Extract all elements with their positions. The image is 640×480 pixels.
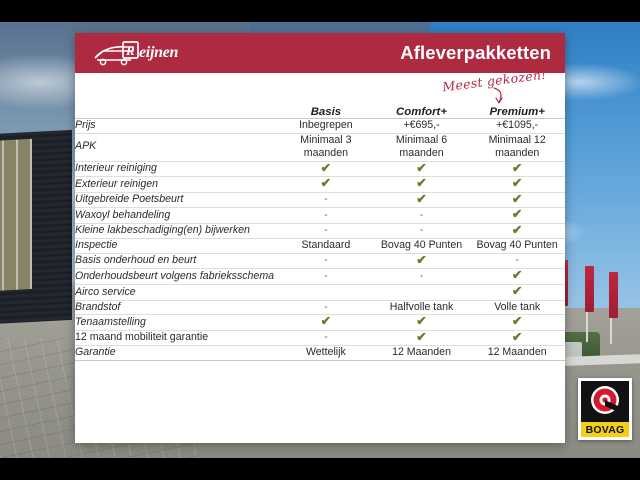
dash-marker: - — [324, 331, 328, 343]
flag — [585, 266, 594, 312]
letterbox-bottom — [0, 458, 640, 480]
table-row: GarantieWettelijk12 Maanden12 Maanden — [75, 346, 565, 361]
table-head: Basis Comfort+ Premium+ — [75, 106, 565, 119]
dash-marker: - — [515, 254, 519, 266]
cell-basis: - — [278, 253, 374, 269]
cell-comfort-plus: ✔ — [374, 177, 470, 193]
table-row: Brandstof-Halfvolle tankVolle tank — [75, 300, 565, 315]
cell-comfort-plus — [374, 285, 470, 301]
cell-comfort-plus: Halfvolle tank — [374, 300, 470, 315]
cell-basis: Inbegrepen — [278, 119, 374, 134]
bovag-logo-icon — [585, 384, 625, 423]
cell-basis: Minimaal 3 maanden — [278, 133, 374, 161]
column-header-basis: Basis — [278, 106, 374, 119]
table-row: Basis onderhoud en beurt-✔- — [75, 253, 565, 269]
dash-marker: - — [324, 209, 328, 221]
row-label: APK — [75, 133, 278, 161]
check-icon: ✔ — [321, 177, 331, 190]
cell-comfort-plus: Minimaal 6 maanden — [374, 133, 470, 161]
cell-premium-plus: 12 Maanden — [469, 346, 565, 361]
table-body: PrijsInbegrepen+€695,-+€1095,-APKMinimaa… — [75, 119, 565, 361]
dash-marker: - — [420, 270, 424, 282]
cell-premium-plus: Minimaal 12 maanden — [469, 133, 565, 161]
table-row: PrijsInbegrepen+€695,-+€1095,- — [75, 119, 565, 134]
cell-premium-plus: ✔ — [469, 269, 565, 285]
cell-basis: Standaard — [278, 239, 374, 254]
check-icon: ✔ — [321, 162, 331, 175]
table-row: Airco service ✔ — [75, 285, 565, 301]
dash-marker: - — [324, 254, 328, 266]
cell-comfort-plus: 12 Maanden — [374, 346, 470, 361]
packages-comparison-table: Basis Comfort+ Premium+ PrijsInbegrepen+… — [75, 106, 565, 361]
check-icon: ✔ — [512, 224, 522, 237]
check-icon: ✔ — [321, 315, 331, 328]
table-row: Kleine lakbeschadiging(en) bijwerken--✔ — [75, 223, 565, 239]
row-label: Prijs — [75, 119, 278, 134]
check-icon: ✔ — [512, 193, 522, 206]
svg-text:R: R — [125, 43, 135, 58]
cell-comfort-plus: ✔ — [374, 253, 470, 269]
table-row: 12 maand mobiliteit garantie-✔✔ — [75, 330, 565, 346]
cell-premium-plus: ✔ — [469, 208, 565, 224]
bovag-badge: BOVAG — [578, 378, 632, 440]
dash-marker: - — [420, 209, 424, 221]
check-icon: ✔ — [416, 315, 426, 328]
cell-basis: - — [278, 208, 374, 224]
flag — [609, 272, 618, 318]
page-title: Afleverpakketten — [400, 42, 551, 64]
check-icon: ✔ — [512, 177, 522, 190]
letterbox-top — [0, 0, 640, 22]
cell-basis: Wettelijk — [278, 346, 374, 361]
cell-basis — [278, 285, 374, 301]
table-row: InspectieStandaardBovag 40 PuntenBovag 4… — [75, 239, 565, 254]
table-row: Waxoyl behandeling--✔ — [75, 208, 565, 224]
dash-marker: - — [420, 224, 424, 236]
check-icon: ✔ — [416, 331, 426, 344]
cell-premium-plus: ✔ — [469, 223, 565, 239]
cell-basis: ✔ — [278, 161, 374, 177]
cell-basis: - — [278, 300, 374, 315]
check-icon: ✔ — [416, 254, 426, 267]
row-label: Tenaamstelling — [75, 315, 278, 331]
cell-comfort-plus: - — [374, 223, 470, 239]
package-card: R eijnen Afleverpakketten Meest gekozen!… — [75, 33, 565, 443]
cell-comfort-plus: ✔ — [374, 192, 470, 208]
bovag-label: BOVAG — [586, 424, 625, 436]
cell-comfort-plus: - — [374, 269, 470, 285]
table-row: Onderhoudsbeurt volgens fabrieksschema--… — [75, 269, 565, 285]
table-row: Exterieur reinigen✔✔✔ — [75, 177, 565, 193]
bovag-label-bar: BOVAG — [581, 422, 629, 437]
check-icon: ✔ — [512, 208, 522, 221]
row-label: Airco service — [75, 285, 278, 301]
dash-marker: - — [324, 193, 328, 205]
reijnen-logo[interactable]: R eijnen — [93, 39, 189, 67]
cell-premium-plus: +€1095,- — [469, 119, 565, 134]
cell-comfort-plus: Bovag 40 Punten — [374, 239, 470, 254]
dash-marker: - — [324, 301, 328, 313]
column-header-premium-plus: Premium+ — [469, 106, 565, 119]
row-label: Uitgebreide Poetsbeurt — [75, 192, 278, 208]
cell-basis: - — [278, 330, 374, 346]
cell-comfort-plus: +€695,- — [374, 119, 470, 134]
table-row: Uitgebreide Poetsbeurt-✔✔ — [75, 192, 565, 208]
check-icon: ✔ — [416, 193, 426, 206]
curved-arrow-icon — [491, 87, 507, 105]
column-header-comfort-plus: Comfort+ — [374, 106, 470, 119]
row-label: Interieur reiniging — [75, 161, 278, 177]
annotation-zone: Meest gekozen! — [75, 73, 565, 106]
building-glass — [0, 139, 32, 291]
cell-premium-plus: - — [469, 253, 565, 269]
check-icon: ✔ — [512, 162, 522, 175]
cell-basis: - — [278, 223, 374, 239]
row-label: Brandstof — [75, 300, 278, 315]
cell-basis: ✔ — [278, 177, 374, 193]
check-icon: ✔ — [512, 285, 522, 298]
dash-marker: - — [324, 224, 328, 236]
table-row: Tenaamstelling✔✔✔ — [75, 315, 565, 331]
dash-marker: - — [324, 270, 328, 282]
check-icon: ✔ — [416, 162, 426, 175]
row-label: Basis onderhoud en beurt — [75, 253, 278, 269]
check-icon: ✔ — [512, 269, 522, 282]
column-header-feature — [75, 106, 278, 119]
row-label: Onderhoudsbeurt volgens fabrieksschema — [75, 269, 278, 285]
card-header: R eijnen Afleverpakketten — [75, 33, 565, 73]
table-row: Interieur reiniging✔✔✔ — [75, 161, 565, 177]
row-label: Garantie — [75, 346, 278, 361]
cell-premium-plus: ✔ — [469, 285, 565, 301]
cell-basis: - — [278, 269, 374, 285]
svg-text:eijnen: eijnen — [139, 44, 178, 61]
row-label: Waxoyl behandeling — [75, 208, 278, 224]
check-icon: ✔ — [512, 315, 522, 328]
cell-comfort-plus: - — [374, 208, 470, 224]
cell-premium-plus: Volle tank — [469, 300, 565, 315]
cell-premium-plus: Bovag 40 Punten — [469, 239, 565, 254]
cell-premium-plus: ✔ — [469, 315, 565, 331]
cell-premium-plus: ✔ — [469, 192, 565, 208]
check-icon: ✔ — [512, 331, 522, 344]
check-icon: ✔ — [416, 177, 426, 190]
cell-comfort-plus: ✔ — [374, 161, 470, 177]
cell-comfort-plus: ✔ — [374, 315, 470, 331]
bovag-badge-inner: BOVAG — [581, 381, 629, 437]
cell-basis: - — [278, 192, 374, 208]
row-label: Exterieur reinigen — [75, 177, 278, 193]
cell-comfort-plus: ✔ — [374, 330, 470, 346]
row-label: 12 maand mobiliteit garantie — [75, 330, 278, 346]
table-row: APKMinimaal 3 maandenMinimaal 6 maandenM… — [75, 133, 565, 161]
table-header-row: Basis Comfort+ Premium+ — [75, 106, 565, 119]
row-label: Inspectie — [75, 239, 278, 254]
cell-basis: ✔ — [278, 315, 374, 331]
cell-premium-plus: ✔ — [469, 330, 565, 346]
cell-premium-plus: ✔ — [469, 161, 565, 177]
cell-premium-plus: ✔ — [469, 177, 565, 193]
car-logo-icon: R eijnen — [93, 39, 189, 67]
row-label: Kleine lakbeschadiging(en) bijwerken — [75, 223, 278, 239]
